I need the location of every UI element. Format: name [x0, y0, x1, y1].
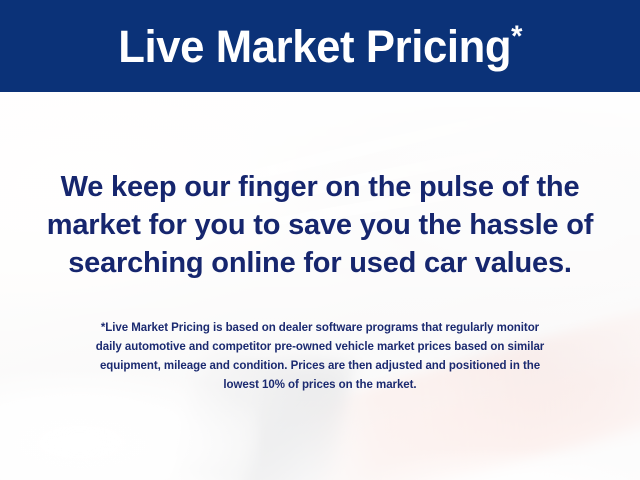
headline-block: We keep our finger on the pulse of the m…: [26, 168, 614, 282]
headline-line: searching online for used car values.: [26, 244, 614, 282]
disclaimer-line: equipment, mileage and condition. Prices…: [24, 357, 616, 376]
page-title-asterisk: *: [511, 20, 522, 53]
disclaimer-line: lowest 10% of prices on the market.: [24, 376, 616, 395]
disclaimer-line: daily automotive and competitor pre-owne…: [24, 338, 616, 357]
live-market-pricing-banner: Live Market Pricing* We keep our finger …: [0, 0, 640, 480]
page-title-text: Live Market Pricing: [118, 21, 511, 72]
headline-line: We keep our finger on the pulse of the: [26, 168, 614, 206]
header-bar: Live Market Pricing*: [0, 0, 640, 92]
headline-line: market for you to save you the hassle of: [26, 206, 614, 244]
background-whitening-overlay: [0, 92, 640, 480]
disclaimer-block: *Live Market Pricing is based on dealer …: [24, 319, 616, 395]
page-title: Live Market Pricing*: [118, 24, 522, 69]
disclaimer-line: *Live Market Pricing is based on dealer …: [24, 319, 616, 338]
